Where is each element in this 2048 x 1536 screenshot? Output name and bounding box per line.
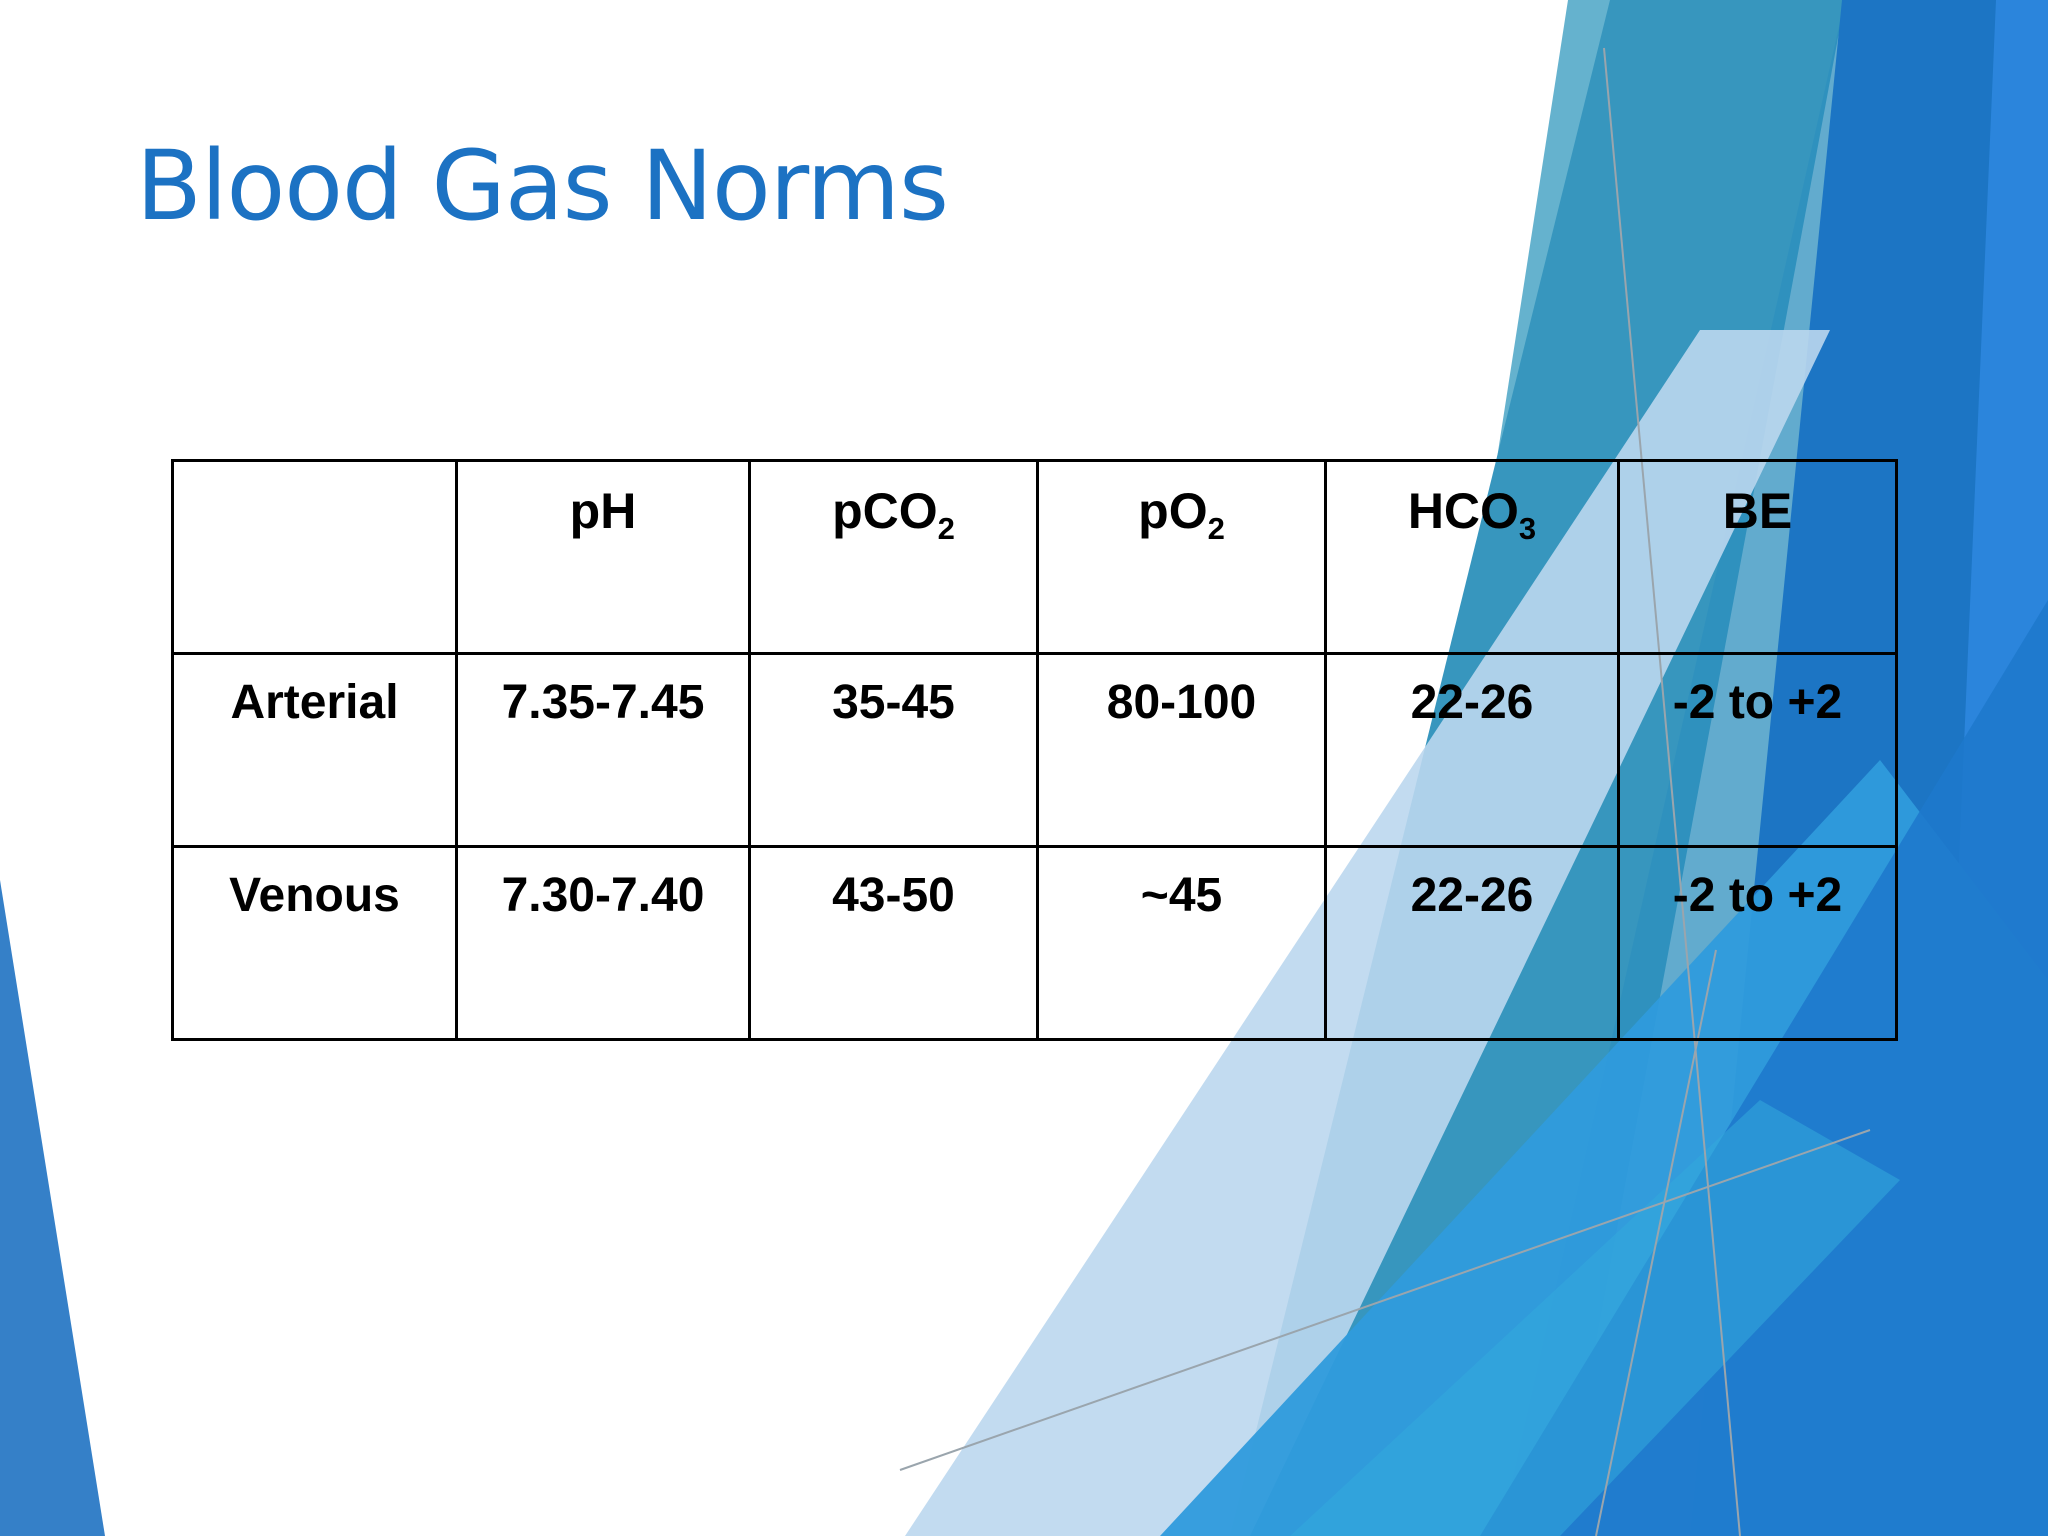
header-cell-ph: pH [457,461,750,654]
cell-venous-po2: ~45 [1038,847,1326,1040]
cell-arterial-po2: 80-100 [1038,654,1326,847]
header-cell-blank [173,461,457,654]
table-row: Arterial 7.35-7.45 35-45 80-100 22-26 -2… [173,654,1897,847]
cell-arterial-be: -2 to +2 [1619,654,1897,847]
blood-gas-norms-table: pH pCO2 pO2 HCO3 BE Arterial 7.35-7.45 3… [171,459,1898,1041]
cell-venous-label: Venous [173,847,457,1040]
header-ph-text: pH [570,483,637,539]
header-be-text: BE [1723,483,1792,539]
cell-venous-hco3: 22-26 [1326,847,1619,1040]
cell-venous-pco2: 43-50 [750,847,1038,1040]
shape-corner-triangle-bottom-left [0,880,105,1536]
header-po2-subscript: 2 [1208,511,1225,546]
header-pco2-text: pCO [832,483,938,539]
cell-arterial-ph: 7.35-7.45 [457,654,750,847]
header-hco3-subscript: 3 [1519,511,1536,546]
cell-arterial-label: Arterial [173,654,457,847]
cell-venous-be: -2 to +2 [1619,847,1897,1040]
presentation-slide: Blood Gas Norms pH pCO2 pO2 HCO3 BE Arte… [0,0,2048,1536]
cell-arterial-pco2: 35-45 [750,654,1038,847]
header-cell-pco2: pCO2 [750,461,1038,654]
hairline-diagonal-lower [900,1130,1870,1470]
table-header-row: pH pCO2 pO2 HCO3 BE [173,461,1897,654]
table-row: Venous 7.30-7.40 43-50 ~45 22-26 -2 to +… [173,847,1897,1040]
cell-arterial-hco3: 22-26 [1326,654,1619,847]
page-title: Blood Gas Norms [136,136,948,237]
header-hco3-text: HCO [1408,483,1519,539]
header-po2-text: pO [1138,483,1207,539]
shape-blue-bright-right [1930,0,2048,1536]
cell-venous-ph: 7.30-7.40 [457,847,750,1040]
header-cell-hco3: HCO3 [1326,461,1619,654]
shape-blue-cyan-foot [1290,1100,1900,1536]
header-cell-be: BE [1619,461,1897,654]
header-cell-po2: pO2 [1038,461,1326,654]
header-pco2-subscript: 2 [938,511,955,546]
